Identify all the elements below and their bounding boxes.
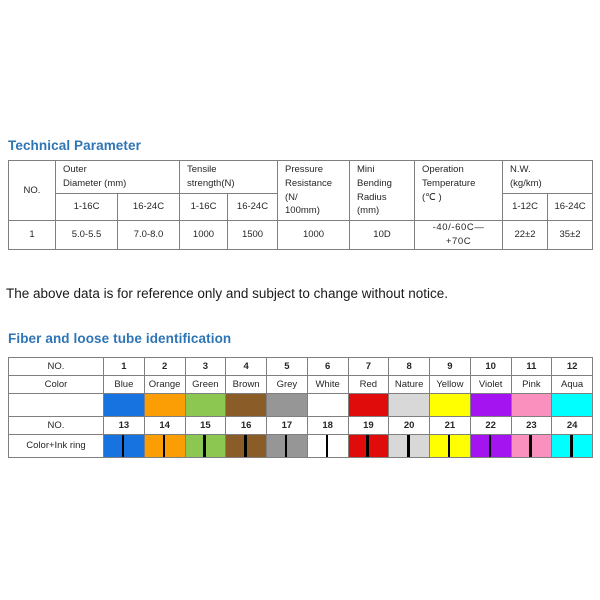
page-title-fiber-identification: Fiber and loose tube identification [8,331,231,346]
ink-ring-marker [448,435,451,457]
row-label-no-1: NO. [9,358,104,376]
ink-ring-marker [326,435,329,457]
fiber-number-6: 6 [307,358,348,376]
fiber-number-11: 11 [511,358,552,376]
swatch-fill-violet [471,394,511,416]
ink-ring-marker [285,435,288,457]
header-operation-temperature-line1: Operation [422,163,502,177]
cell-mini-bending-radius: 10D [350,221,415,250]
cell-nw-1-12c: 22±2 [503,221,548,250]
fiber-swatch-ink-ring-23 [511,435,552,458]
header-mini-bending-radius-line2: Bending [357,177,414,191]
header-pressure-resistance-line4: 100mm) [285,204,349,218]
fiber-color-name-12: Aqua [552,376,593,394]
fiber-color-name-2: Orange [144,376,185,394]
fiber-color-name-8: Nature [389,376,430,394]
fiber-number-1: 1 [104,358,145,376]
header-outer-diameter-line2: Diameter (mm) [63,177,179,191]
row-label-swatch-blank [9,394,104,417]
technical-parameter-table: NO. Outer Diameter (mm) Tensile strength… [8,160,593,250]
header-mini-bending-radius-line4: (mm) [357,204,414,218]
reference-note: The above data is for reference only and… [6,286,448,301]
page-root: Technical Parameter NO. Outer Diameter (… [0,0,600,600]
swatch-fill-red [349,394,389,416]
table-row-data: 1 5.0-5.5 7.0-8.0 1000 1500 1000 10D -40… [9,221,593,250]
fiber-number-14: 14 [144,417,185,435]
fiber-swatch-ink-ring-14 [144,435,185,458]
page-title-technical-parameter: Technical Parameter [8,138,141,153]
header-pressure-resistance-line1: Pressure [285,163,349,177]
fiber-number-2: 2 [144,358,185,376]
swatch-fill-pink [512,394,552,416]
fiber-number-8: 8 [389,358,430,376]
header-tensile-strength-line2: strength(N) [187,177,277,191]
cell-nw-16-24c: 35±2 [548,221,593,250]
header-tensile-strength: Tensile strength(N) [180,161,278,194]
header-pressure-resistance-line3: (N/ [285,191,349,205]
fiber-swatch-ink-ring-21 [430,435,471,458]
swatch-fill-orange [145,394,185,416]
cell-ts-16-24c: 1500 [228,221,278,250]
fiber-swatch-ink-ring-15 [185,435,226,458]
fiber-swatch-ink-ring-22 [470,435,511,458]
swatch-fill-aqua [552,394,592,416]
table-row-fiber-swatches [9,394,593,417]
header-net-weight-line1: N.W. [510,163,592,177]
table-row-fiber-numbers-2: NO.131415161718192021222324 [9,417,593,435]
fiber-number-20: 20 [389,417,430,435]
header-outer-diameter-line1: Outer [63,163,179,177]
fiber-swatch-11 [511,394,552,417]
header-mini-bending-radius: Mini Bending Radius (mm) [350,161,415,221]
fiber-swatch-12 [552,394,593,417]
fiber-number-3: 3 [185,358,226,376]
fiber-number-23: 23 [511,417,552,435]
fiber-number-5: 5 [267,358,308,376]
fiber-color-name-4: Brown [226,376,267,394]
header-operation-temperature-line2: Temperature [422,177,502,191]
fiber-swatch-ink-ring-20 [389,435,430,458]
ink-ring-marker [570,435,573,457]
fiber-number-24: 24 [552,417,593,435]
subheader-od-1-16c: 1-16C [56,193,118,221]
fiber-swatch-7 [348,394,389,417]
fiber-swatch-ink-ring-19 [348,435,389,458]
fiber-swatch-ink-ring-13 [104,435,145,458]
cell-pressure-resistance: 1000 [278,221,350,250]
fiber-swatch-ink-ring-16 [226,435,267,458]
header-outer-diameter: Outer Diameter (mm) [56,161,180,194]
ink-ring-marker [366,435,369,457]
fiber-swatch-2 [144,394,185,417]
header-pressure-resistance: Pressure Resistance (N/ 100mm) [278,161,350,221]
swatch-fill-nature [389,394,429,416]
fiber-swatch-ink-ring-18 [307,435,348,458]
swatch-fill-yellow [430,394,470,416]
table-row-fiber-color-names: ColorBlueOrangeGreenBrownGreyWhiteRedNat… [9,376,593,394]
swatch-fill-grey [267,394,307,416]
fiber-swatch-5 [267,394,308,417]
header-mini-bending-radius-line3: Radius [357,191,414,205]
header-operation-temperature-line3: (℃ ) [422,191,502,205]
cell-operation-temperature: -40/-60C— +70C [415,221,503,250]
fiber-number-4: 4 [226,358,267,376]
fiber-number-9: 9 [430,358,471,376]
fiber-swatch-10 [470,394,511,417]
fiber-color-name-3: Green [185,376,226,394]
fiber-number-22: 22 [470,417,511,435]
fiber-swatch-3 [185,394,226,417]
fiber-color-name-1: Blue [104,376,145,394]
subheader-ts-1-16c: 1-16C [180,193,228,221]
ink-ring-marker [122,435,125,457]
fiber-number-7: 7 [348,358,389,376]
subheader-od-16-24c: 16-24C [118,193,180,221]
header-no: NO. [9,161,56,221]
header-operation-temperature: Operation Temperature (℃ ) [415,161,503,221]
fiber-number-21: 21 [430,417,471,435]
subheader-nw-16-24c: 16-24C [548,193,593,221]
ink-ring-marker [407,435,410,457]
fiber-number-17: 17 [267,417,308,435]
fiber-identification-table: NO.123456789101112ColorBlueOrangeGreenBr… [8,357,593,458]
ink-ring-marker [244,435,247,457]
header-net-weight: N.W. (kg/km) [503,161,593,194]
cell-od-16-24c: 7.0-8.0 [118,221,180,250]
ink-ring-marker [529,435,532,457]
fiber-color-name-10: Violet [470,376,511,394]
fiber-swatch-ink-ring-24 [552,435,593,458]
header-tensile-strength-line1: Tensile [187,163,277,177]
fiber-swatch-8 [389,394,430,417]
header-net-weight-line2: (kg/km) [510,177,592,191]
cell-ts-1-16c: 1000 [180,221,228,250]
fiber-swatch-ink-ring-17 [267,435,308,458]
fiber-number-10: 10 [470,358,511,376]
fiber-number-12: 12 [552,358,593,376]
subheader-nw-1-12c: 1-12C [503,193,548,221]
fiber-swatch-1 [104,394,145,417]
ink-ring-marker [163,435,166,457]
fiber-swatch-9 [430,394,471,417]
fiber-number-15: 15 [185,417,226,435]
fiber-color-name-5: Grey [267,376,308,394]
cell-od-1-16c: 5.0-5.5 [56,221,118,250]
swatch-fill-white [308,394,348,416]
fiber-color-name-7: Red [348,376,389,394]
swatch-fill-brown [226,394,266,416]
fiber-number-19: 19 [348,417,389,435]
ink-ring-marker [489,435,492,457]
fiber-number-16: 16 [226,417,267,435]
subheader-ts-16-24c: 16-24C [228,193,278,221]
fiber-color-name-9: Yellow [430,376,471,394]
swatch-fill-blue [104,394,144,416]
header-mini-bending-radius-line1: Mini [357,163,414,177]
fiber-number-13: 13 [104,417,145,435]
fiber-number-18: 18 [307,417,348,435]
fiber-color-name-11: Pink [511,376,552,394]
row-label-color: Color [9,376,104,394]
cell-operation-temperature-line1: -40/-60C— [415,221,502,235]
cell-operation-temperature-line2: +70C [415,235,502,249]
row-label-color-ink-ring: Color+Ink ring [9,435,104,458]
ink-ring-marker [203,435,206,457]
fiber-swatch-4 [226,394,267,417]
header-pressure-resistance-line2: Resistance [285,177,349,191]
table-row-fiber-numbers-1: NO.123456789101112 [9,358,593,376]
swatch-fill-green [186,394,226,416]
row-label-no-2: NO. [9,417,104,435]
fiber-color-name-6: White [307,376,348,394]
table-row-fiber-swatches-ink-ring: Color+Ink ring [9,435,593,458]
fiber-swatch-6 [307,394,348,417]
cell-no: 1 [9,221,56,250]
